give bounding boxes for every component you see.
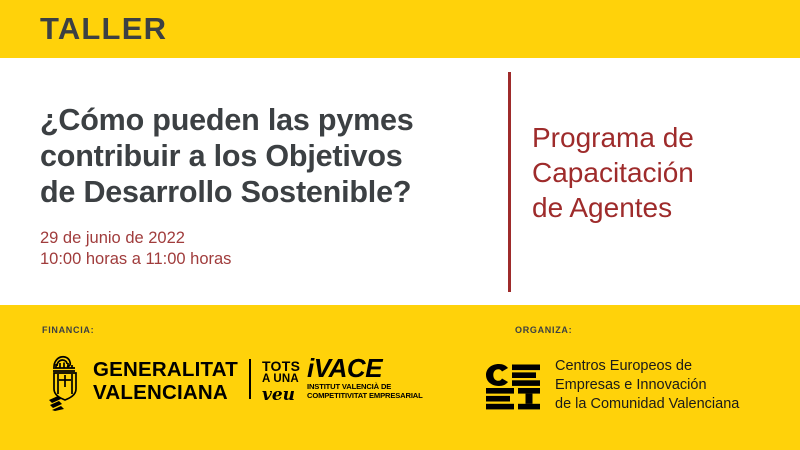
generalitat-logo-separator — [249, 359, 251, 399]
generalitat-slogan: TOTS A UNA veu — [262, 359, 300, 404]
ivace-subtitle-line-1: INSTITUT VALENCIÀ DE — [307, 382, 423, 391]
event-date: 29 de junio de 2022 — [40, 228, 470, 249]
ceei-logo: Centros Europeos de Empresas e Innovació… — [484, 357, 739, 414]
slogan-line-tots: TOTS — [262, 359, 300, 373]
organiza-label: ORGANIZA: — [515, 325, 572, 335]
generalitat-coat-of-arms-icon — [44, 353, 84, 411]
ceei-fullname-line-1: Centros Europeos de — [555, 357, 739, 376]
generalitat-word-line-1: GENERALITAT — [93, 358, 238, 381]
poster-canvas: TALLER ¿Cómo pueden las pymes contribuir… — [0, 0, 800, 450]
generalitat-valenciana-logo: GENERALITAT VALENCIANA TOTS A UNA veu — [44, 353, 300, 413]
ivace-logo: iVACE INSTITUT VALENCIÀ DE COMPETITIVITA… — [307, 355, 423, 401]
footer-band: FINANCIA: ORGANIZA: — [0, 305, 800, 450]
top-banner: TALLER — [0, 0, 800, 58]
generalitat-wordmark: GENERALITAT VALENCIANA — [93, 358, 238, 404]
ivace-subtitle-line-2: COMPETITIVITAT EMPRESARIAL — [307, 391, 423, 400]
program-name-line-1: Programa de — [532, 120, 782, 155]
financia-label: FINANCIA: — [42, 325, 94, 335]
ceei-fullname-line-2: Empresas e Innovación — [555, 376, 739, 395]
generalitat-word-line-2: VALENCIANA — [93, 381, 238, 404]
main-content-area: ¿Cómo pueden las pymes contribuir a los … — [0, 58, 800, 305]
event-schedule: 29 de junio de 2022 10:00 horas a 11:00 … — [40, 228, 470, 270]
program-name-line-3: de Agentes — [532, 190, 782, 225]
program-name: Programa de Capacitación de Agentes — [532, 120, 782, 225]
vertical-divider — [508, 72, 511, 292]
event-time: 10:00 horas a 11:00 horas — [40, 249, 470, 270]
ivace-wordmark: iVACE — [307, 355, 423, 382]
ceei-monogram-icon — [484, 362, 542, 410]
event-title: ¿Cómo pueden las pymes contribuir a los … — [40, 102, 480, 210]
event-title-line-2: contribuir a los Objetivos — [40, 138, 480, 174]
program-name-line-2: Capacitación — [532, 155, 782, 190]
slogan-line-veu: veu — [262, 386, 300, 404]
banner-label-taller: TALLER — [40, 12, 167, 46]
ceei-fullname: Centros Europeos de Empresas e Innovació… — [555, 357, 739, 414]
event-title-line-1: ¿Cómo pueden las pymes — [40, 102, 480, 138]
ceei-fullname-line-3: de la Comunidad Valenciana — [555, 395, 739, 414]
event-title-line-3: de Desarrollo Sostenible? — [40, 174, 480, 210]
